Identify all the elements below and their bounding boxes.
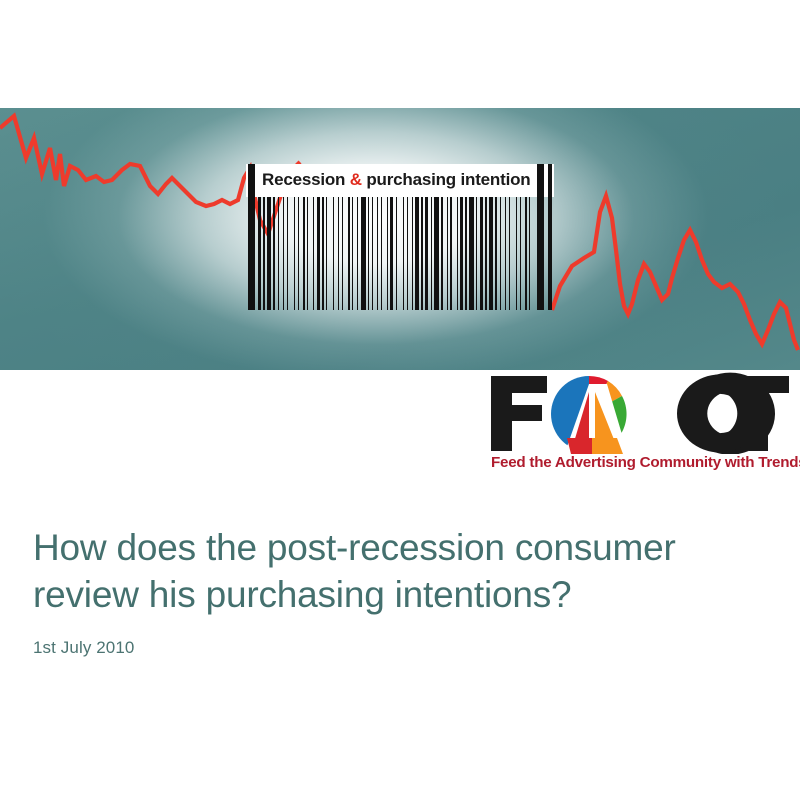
barcode-bar [465, 197, 467, 310]
barcode-bar [287, 197, 288, 310]
barcode-bar [390, 197, 393, 310]
barcode-bar [489, 197, 493, 310]
barcode-bar [333, 197, 334, 310]
barcode-title-text: Recession & purchasing intention [262, 165, 534, 195]
barcode-bar [317, 197, 320, 310]
barcode-bar [338, 197, 339, 310]
barcode-bar [434, 197, 439, 310]
barcode-bar [476, 197, 477, 310]
barcode-bar [447, 197, 448, 310]
barcode-bar [357, 197, 358, 310]
trend-line-right [552, 196, 798, 350]
barcode-ampersand: & [350, 170, 362, 189]
barcode-bar [525, 197, 527, 310]
barcode-bar [387, 197, 388, 310]
barcode-bar [278, 197, 279, 310]
fact-tagline: Feed the Advertising Community with Tren… [491, 454, 789, 471]
barcode-bar [403, 197, 404, 310]
barcode-bar [348, 197, 350, 310]
barcode-bar [516, 197, 517, 310]
barcode-bar [368, 197, 369, 310]
barcode-bar [485, 197, 487, 310]
barcode-bar [431, 197, 432, 310]
barcode-bar [258, 197, 261, 310]
barcode-bar [361, 197, 366, 310]
slide-date: 1st July 2010 [33, 638, 763, 658]
barcode-bar [495, 197, 497, 310]
barcode-guard-bar-right-outer [548, 164, 552, 310]
barcode-bar [267, 197, 271, 310]
barcode-bars [258, 197, 534, 310]
barcode-bar [283, 197, 284, 310]
barcode-bar [407, 197, 408, 310]
barcode-bar [450, 197, 452, 310]
barcode-bar [457, 197, 458, 310]
barcode-bar [425, 197, 428, 310]
fact-wordmark [489, 372, 789, 454]
barcode-bar [469, 197, 474, 310]
hero-banner-image: Recession & purchasing intention [0, 108, 800, 370]
barcode-bar [298, 197, 299, 310]
barcode-bar [421, 197, 423, 310]
barcode-bar [377, 197, 378, 310]
barcode-bar [441, 197, 443, 310]
barcode-bar [529, 197, 530, 310]
barcode-bar [372, 197, 373, 310]
barcode-bar [415, 197, 419, 310]
barcode-bar [326, 197, 327, 310]
barcode-bar [294, 197, 295, 310]
logo-letter-f [491, 376, 547, 451]
barcode-bar [412, 197, 413, 310]
barcode-bar [505, 197, 506, 310]
barcode-bar [520, 197, 521, 310]
barcode-bar [307, 197, 308, 310]
barcode-graphic: Recession & purchasing intention [246, 164, 554, 310]
barcode-bar [500, 197, 501, 310]
barcode-bar [263, 197, 265, 310]
barcode-bar [303, 197, 305, 310]
barcode-bar [352, 197, 353, 310]
presentation-slide: Recession & purchasing intention [0, 0, 800, 800]
logo-letter-a-circle [551, 376, 629, 454]
page-title: How does the post-recession consumer rev… [33, 524, 763, 618]
barcode-bar [322, 197, 324, 310]
barcode-bar [460, 197, 463, 310]
barcode-guard-bar-right [537, 164, 544, 310]
fact-logo: Feed the Advertising Community with Tren… [489, 372, 789, 478]
barcode-guard-bar-left [248, 164, 255, 310]
barcode-bar [342, 197, 343, 310]
title-block: How does the post-recession consumer rev… [33, 524, 763, 658]
barcode-bar [396, 197, 397, 310]
barcode-bar [381, 197, 382, 310]
barcode-bar [273, 197, 275, 310]
barcode-bar [509, 197, 510, 310]
barcode-bar [480, 197, 483, 310]
barcode-bar [313, 197, 314, 310]
